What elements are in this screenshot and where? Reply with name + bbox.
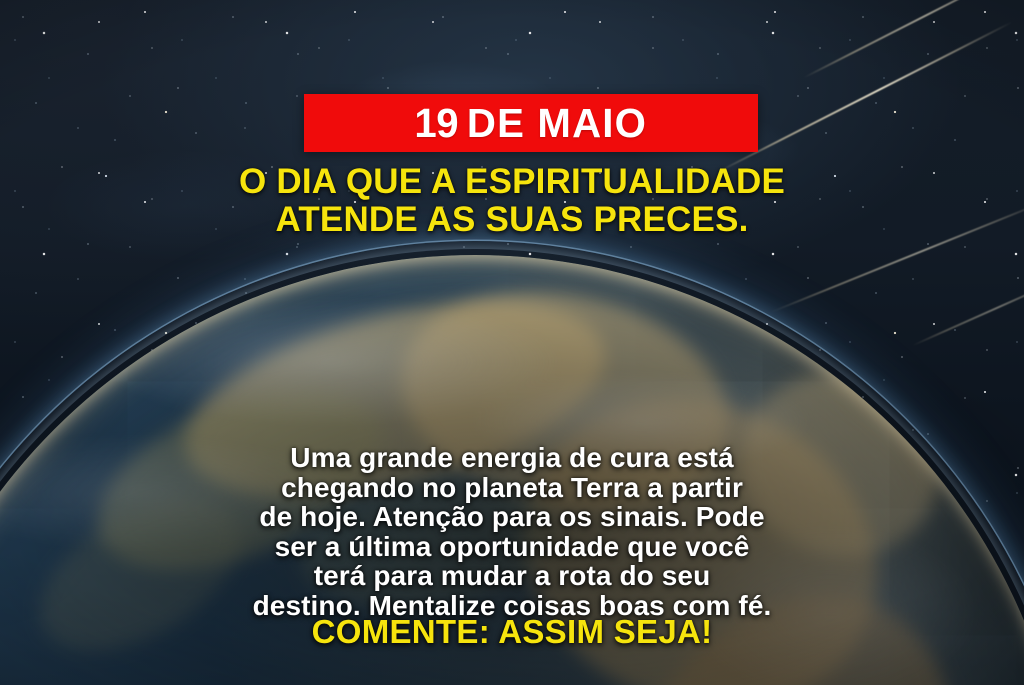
body-line-3: de hoje. Atenção para os sinais. Pode (0, 502, 1024, 532)
call-to-action-text: COMENTE: ASSIM SEJA! (0, 614, 1024, 650)
body-line-1: Uma grande energia de cura está (0, 443, 1024, 473)
headline: O DIA QUE A ESPIRITUALIDADE ATENDE AS SU… (0, 163, 1024, 239)
body-copy: Uma grande energia de cura está chegando… (0, 443, 1024, 620)
date-banner-text: 19DE MAIO (415, 103, 648, 144)
headline-line-2: ATENDE AS SUAS PRECES. (0, 201, 1024, 239)
poster-content: 19DE MAIO O DIA QUE A ESPIRITUALIDADE AT… (0, 0, 1024, 685)
poster-image: 19DE MAIO O DIA QUE A ESPIRITUALIDADE AT… (0, 0, 1024, 685)
date-month: DE MAIO (467, 100, 647, 146)
body-line-5: terá para mudar a rota do seu (0, 561, 1024, 591)
body-line-4: ser a última oportunidade que você (0, 532, 1024, 562)
date-banner: 19DE MAIO (304, 94, 758, 152)
headline-line-1: O DIA QUE A ESPIRITUALIDADE (0, 163, 1024, 201)
date-day: 19 (415, 100, 459, 146)
body-line-2: chegando no planeta Terra a partir (0, 473, 1024, 503)
